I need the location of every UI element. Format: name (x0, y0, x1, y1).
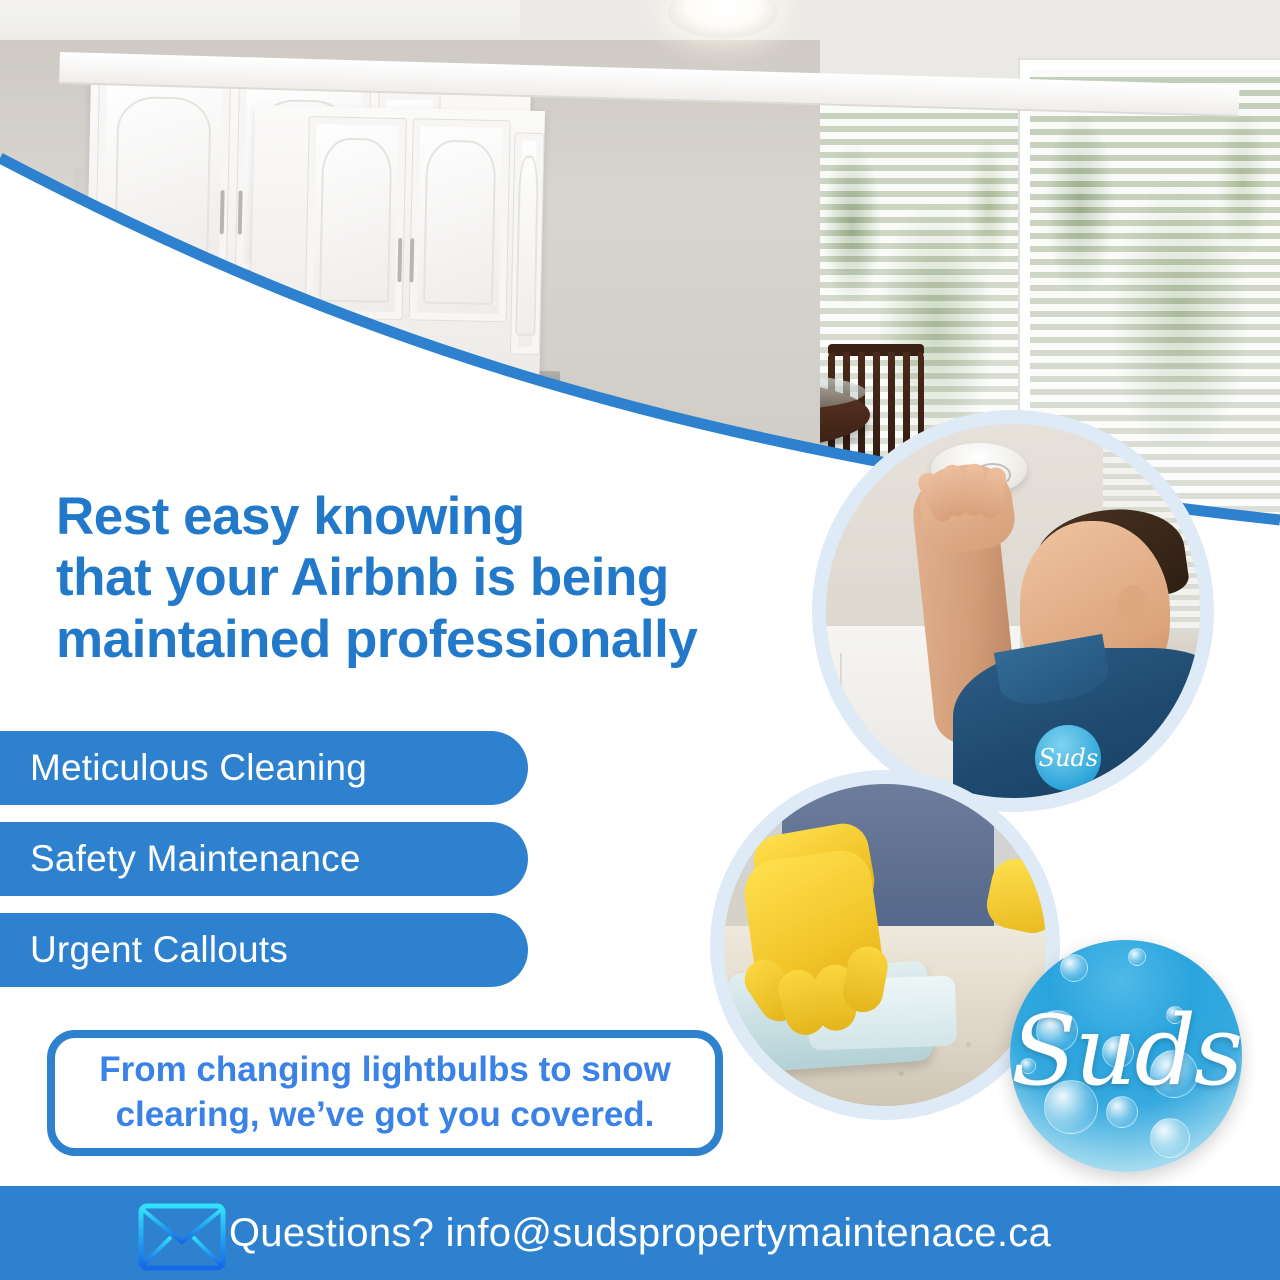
service-label: Meticulous Cleaning (30, 747, 367, 789)
footer-bar: Questions? info@sudspropertymaintenace.c… (0, 1186, 1280, 1280)
badge-brand-text: Suds (1035, 744, 1101, 772)
headline: Rest easy knowing that your Airbnb is be… (56, 486, 816, 670)
headline-line-1: Rest easy knowing (56, 486, 816, 547)
service-pill-meticulous-cleaning[interactable]: Meticulous Cleaning (0, 731, 528, 805)
advertisement-poster: Suds Rest easy knowing that your Airbnb … (0, 0, 1280, 1280)
headline-line-2: that your Airbnb is being (56, 547, 816, 608)
photo-technician-smoke-detector: Suds (826, 424, 1200, 798)
tagline-line-1: From changing lightbulbs to snow (99, 1050, 671, 1089)
service-list: Meticulous Cleaning Safety Maintenance U… (0, 731, 540, 1004)
service-pill-safety-maintenance[interactable]: Safety Maintenance (0, 822, 528, 896)
footer-contact-text: Questions? info@sudspropertymaintenace.c… (0, 1211, 1280, 1256)
uniform-logo-badge: Suds (1035, 725, 1101, 791)
logo-wordmark: Suds (1010, 994, 1242, 1106)
photo-gloved-hands-cleaning (724, 784, 1046, 1106)
tagline-box: From changing lightbulbs to snow clearin… (47, 1030, 723, 1156)
service-label: Safety Maintenance (30, 838, 361, 880)
service-label: Urgent Callouts (30, 929, 288, 971)
suds-logo: Suds (1010, 940, 1242, 1172)
headline-line-3: maintained professionally (56, 609, 816, 670)
service-pill-urgent-callouts[interactable]: Urgent Callouts (0, 913, 528, 987)
tagline-line-2: clearing, we’ve got you covered. (116, 1095, 655, 1134)
tagline-text: From changing lightbulbs to snow clearin… (99, 1048, 671, 1138)
